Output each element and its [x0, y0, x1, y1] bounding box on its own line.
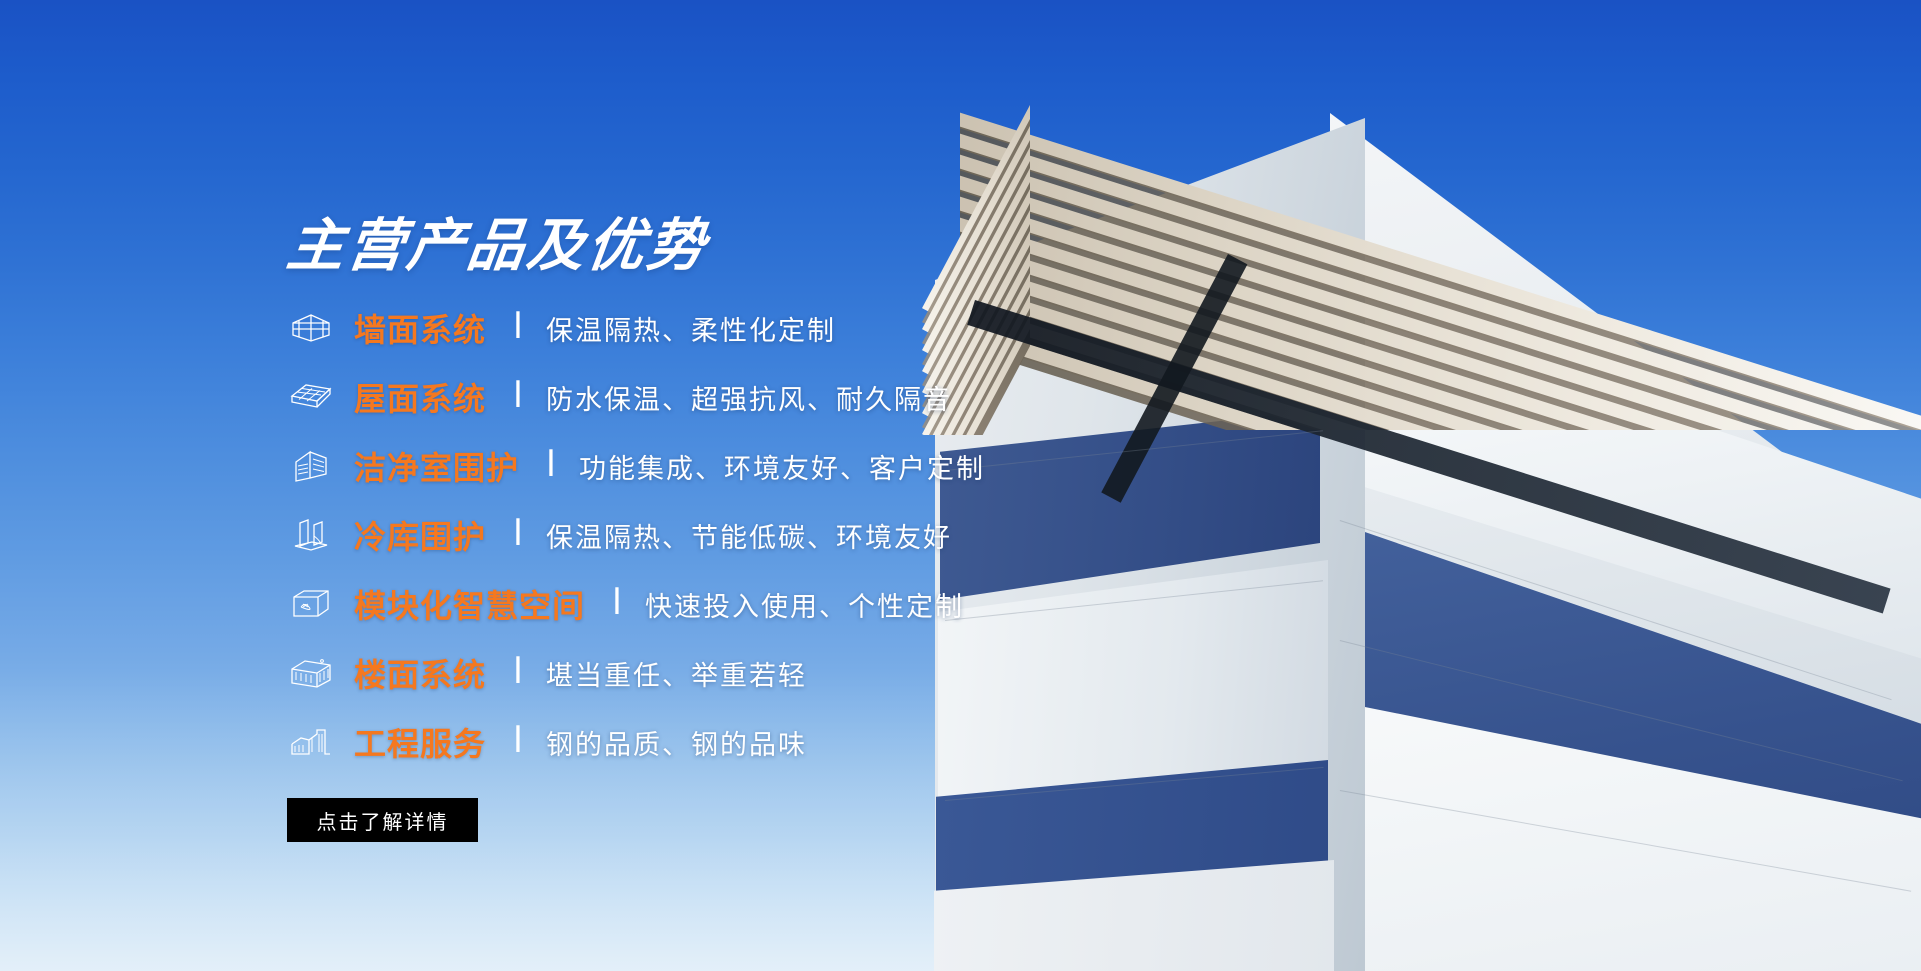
roof-panel-icon — [288, 377, 334, 417]
modular-space-icon — [288, 584, 334, 624]
hero-banner: 主营产品及优势 墙面系统 丨 保温隔热、柔性化定制 — [0, 0, 1921, 971]
separator-bar: 丨 — [537, 450, 565, 478]
product-list: 墙面系统 丨 保温隔热、柔性化定制 屋面系统 丨 防水保温、超强抗 — [288, 300, 1388, 783]
product-desc: 保温隔热、节能低碳、环境友好 — [546, 516, 952, 555]
wall-panel-icon — [288, 308, 334, 348]
product-label: 工程服务 — [354, 719, 486, 765]
product-label: 楼面系统 — [354, 650, 486, 696]
engineering-service-icon — [288, 722, 334, 762]
list-item[interactable]: 楼面系统 丨 堪当重任、举重若轻 — [288, 645, 1388, 701]
list-item[interactable]: 模块化智慧空间 丨 快速投入使用、个性定制 — [288, 576, 1388, 632]
product-desc: 堪当重任、举重若轻 — [546, 654, 807, 693]
product-desc: 快速投入使用、个性定制 — [645, 585, 964, 624]
product-desc: 保温隔热、柔性化定制 — [546, 309, 836, 348]
separator-bar: 丨 — [504, 726, 532, 754]
product-label: 屋面系统 — [354, 374, 486, 420]
list-item[interactable]: 屋面系统 丨 防水保温、超强抗风、耐久隔音 — [288, 369, 1388, 425]
list-item[interactable]: 工程服务 丨 钢的品质、钢的品味 — [288, 714, 1388, 770]
separator-bar: 丨 — [504, 519, 532, 547]
product-label: 模块化智慧空间 — [354, 581, 585, 627]
list-item[interactable]: 洁净室围护 丨 功能集成、环境友好、客户定制 — [288, 438, 1388, 494]
learn-more-button[interactable]: 点击了解详情 — [287, 798, 478, 842]
cleanroom-building-icon — [288, 446, 334, 486]
list-item[interactable]: 冷库围护 丨 保温隔热、节能低碳、环境友好 — [288, 507, 1388, 563]
list-item[interactable]: 墙面系统 丨 保温隔热、柔性化定制 — [288, 300, 1388, 356]
product-desc: 功能集成、环境友好、客户定制 — [579, 447, 985, 486]
separator-bar: 丨 — [603, 588, 631, 616]
product-desc: 钢的品质、钢的品味 — [546, 723, 807, 762]
separator-bar: 丨 — [504, 312, 532, 340]
product-label: 洁净室围护 — [354, 443, 519, 489]
cold-storage-icon — [288, 515, 334, 555]
product-label: 冷库围护 — [354, 512, 486, 558]
separator-bar: 丨 — [504, 657, 532, 685]
page-title: 主营产品及优势 — [283, 200, 713, 282]
product-desc: 防水保温、超强抗风、耐久隔音 — [546, 378, 952, 417]
product-label: 墙面系统 — [354, 305, 486, 351]
floor-system-icon — [288, 653, 334, 693]
hero-content: 主营产品及优势 墙面系统 丨 保温隔热、柔性化定制 — [0, 0, 1921, 971]
separator-bar: 丨 — [504, 381, 532, 409]
